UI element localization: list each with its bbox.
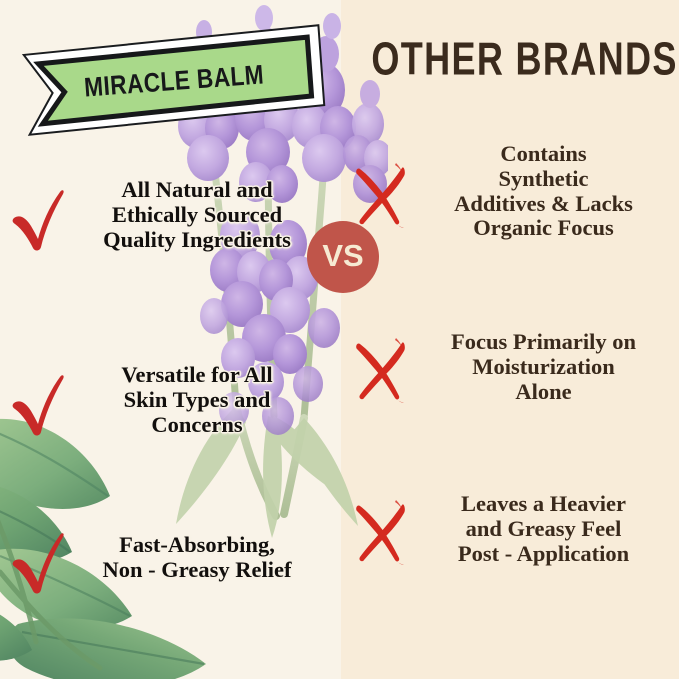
pro-item-1-line-2: Ethically Sourced: [68, 203, 326, 228]
con-item-1-line-3: Additives & Lacks: [410, 192, 677, 217]
con-item-2-line-2: Moisturization: [410, 355, 677, 380]
cross-icon: [352, 155, 410, 229]
con-item-2-line-3: Alone: [410, 380, 677, 405]
vs-badge: VS: [307, 221, 379, 293]
pro-item-3: Fast-Absorbing, Non - Greasy Relief: [6, 521, 326, 595]
check-icon: [6, 363, 68, 437]
banner-label: MIRACLE BALM: [45, 24, 303, 138]
miracle-balm-banner: MIRACLE BALM: [21, 21, 327, 139]
cross-icon: [352, 492, 410, 566]
con-item-2: Focus Primarily on Moisturization Alone: [352, 330, 677, 404]
pro-item-1-line-3: Quality Ingredients: [68, 228, 326, 253]
vs-label: VS: [322, 238, 363, 274]
con-item-2-line-1: Focus Primarily on: [410, 330, 677, 355]
pro-item-1: All Natural and Ethically Sourced Qualit…: [6, 178, 326, 253]
con-item-3-text: Leaves a Heavier and Greasy Feel Post - …: [410, 492, 677, 566]
con-item-1-line-4: Organic Focus: [410, 216, 677, 241]
con-item-1-line-1: Contains: [410, 142, 677, 167]
pro-item-2-text: Versatile for All Skin Types and Concern…: [68, 363, 326, 438]
check-icon: [6, 178, 68, 252]
other-brands-title: OTHER BRANDS: [371, 33, 654, 86]
check-icon: [6, 521, 68, 595]
comparison-poster: MIRACLE BALM OTHER BRANDS VS All Natural…: [0, 0, 679, 679]
pro-item-2-line-2: Skin Types and: [68, 388, 326, 413]
pro-item-3-line-2: Non - Greasy Relief: [68, 558, 326, 583]
pro-item-2-line-1: Versatile for All: [68, 363, 326, 388]
con-item-3: Leaves a Heavier and Greasy Feel Post - …: [352, 492, 677, 566]
pro-item-1-line-1: All Natural and: [68, 178, 326, 203]
con-item-3-line-2: and Greasy Feel: [410, 517, 677, 542]
cross-icon: [352, 330, 410, 404]
con-item-1-text: Contains Synthetic Additives & Lacks Org…: [410, 142, 677, 241]
con-item-2-text: Focus Primarily on Moisturization Alone: [410, 330, 677, 404]
pro-item-1-text: All Natural and Ethically Sourced Qualit…: [68, 178, 326, 253]
pro-item-3-line-1: Fast-Absorbing,: [68, 533, 326, 558]
pro-item-3-text: Fast-Absorbing, Non - Greasy Relief: [68, 533, 326, 583]
pro-item-2-line-3: Concerns: [68, 413, 326, 438]
pro-item-2: Versatile for All Skin Types and Concern…: [6, 363, 326, 438]
con-item-1-line-2: Synthetic: [410, 167, 677, 192]
con-item-3-line-3: Post - Application: [410, 542, 677, 567]
con-item-1: Contains Synthetic Additives & Lacks Org…: [352, 142, 677, 241]
con-item-3-line-1: Leaves a Heavier: [410, 492, 677, 517]
